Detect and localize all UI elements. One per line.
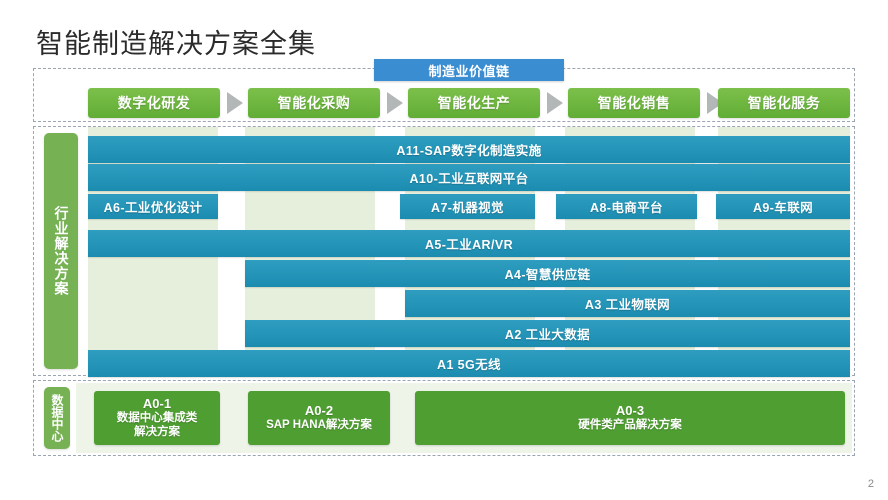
value-chain-banner: 制造业价值链 [374, 59, 564, 81]
stage-box-smart-procurement[interactable]: 智能化采购 [248, 88, 380, 118]
solution-bar-a9[interactable]: A9-车联网 [716, 194, 850, 219]
data-center-side-label: 数据中心 [44, 387, 70, 449]
data-center-box-a01-line2: 解决方案 [134, 425, 180, 439]
chain-arrow-icon [547, 92, 563, 114]
data-center-box-a01-code: A0-1 [143, 397, 171, 411]
slide-canvas: 智能制造解决方案全集 制造业价值链 数字化研发 智能化采购 智能化生产 智能化销… [0, 0, 888, 500]
solution-bar-a6[interactable]: A6-工业优化设计 [88, 194, 218, 219]
chain-arrow-icon [387, 92, 403, 114]
solution-bar-a5[interactable]: A5-工业AR/VR [88, 230, 850, 257]
stage-box-smart-production[interactable]: 智能化生产 [408, 88, 540, 118]
solution-bar-a3[interactable]: A3 工业物联网 [405, 290, 850, 317]
chain-arrow-icon [227, 92, 243, 114]
solution-bar-a8[interactable]: A8-电商平台 [556, 194, 697, 219]
data-center-box-a01-line1: 数据中心集成类 [117, 411, 198, 425]
data-center-box-a02-line1: SAP HANA解决方案 [266, 418, 372, 432]
page-number: 2 [868, 478, 874, 490]
stage-box-smart-sales[interactable]: 智能化销售 [568, 88, 700, 118]
stage-box-digital-rd[interactable]: 数字化研发 [88, 88, 220, 118]
solution-bar-a11[interactable]: A11-SAP数字化制造实施 [88, 136, 850, 163]
data-center-box-a01[interactable]: A0-1 数据中心集成类 解决方案 [94, 391, 220, 445]
data-center-box-a03[interactable]: A0-3 硬件类产品解决方案 [415, 391, 845, 445]
solution-bar-a7[interactable]: A7-机器视觉 [400, 194, 535, 219]
data-center-box-a03-code: A0-3 [616, 404, 644, 418]
solution-bar-a10[interactable]: A10-工业互联网平台 [88, 164, 850, 191]
data-center-box-a03-line1: 硬件类产品解决方案 [578, 418, 682, 432]
industry-solutions-side-label: 行业解决方案 [44, 133, 78, 369]
solution-bar-a4[interactable]: A4-智慧供应链 [245, 260, 850, 287]
stage-box-smart-service[interactable]: 智能化服务 [718, 88, 850, 118]
solution-bar-a2[interactable]: A2 工业大数据 [245, 320, 850, 347]
page-title: 智能制造解决方案全集 [36, 22, 316, 61]
solution-bar-a1[interactable]: A1 5G无线 [88, 350, 850, 377]
data-center-box-a02[interactable]: A0-2 SAP HANA解决方案 [248, 391, 390, 445]
data-center-box-a02-code: A0-2 [305, 404, 333, 418]
